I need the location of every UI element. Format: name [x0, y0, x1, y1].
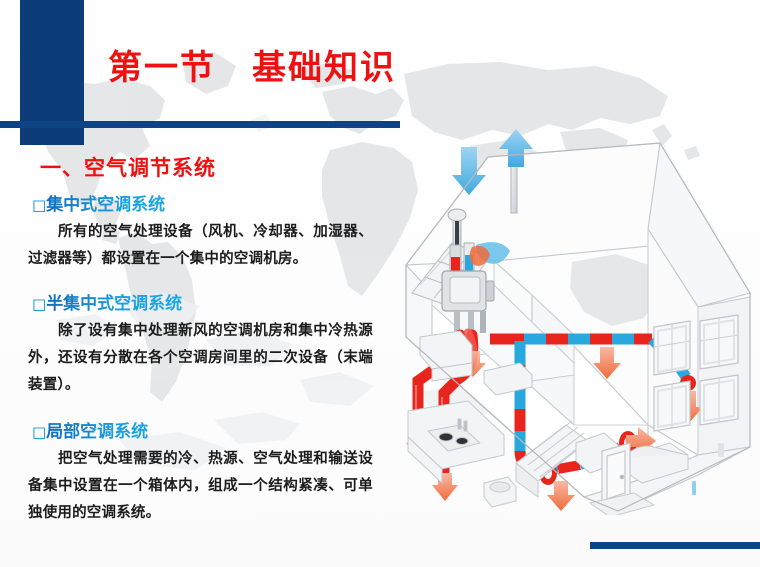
bullet-heading-2-label: 半集中式空调系统: [46, 294, 182, 314]
house-hvac-illustration: [398, 125, 760, 515]
bullet-heading-3: □局部空调系统: [32, 417, 373, 442]
paragraph-2: 除了设有集中处理新风的空调机房和集中冷热源外，还设有分散在各个空调房间里的二次设…: [28, 318, 373, 399]
slide-canvas: 第一节 基础知识 一、空气调节系统 □集中式空调系统 所有的空气处理设备（风机、…: [0, 0, 760, 567]
bullet-heading-3-label: 局部空调系统: [46, 422, 148, 442]
section-heading: 一、空气调节系统: [40, 152, 216, 182]
paragraph-1: 所有的空气处理设备（风机、冷却器、加湿器、过滤器等）都设置在一个集中的空调机房。: [28, 219, 373, 273]
house-hvac-svg: [398, 125, 760, 515]
square-bullet-icon: □: [32, 196, 46, 214]
square-bullet-icon: □: [32, 423, 46, 441]
paragraph-3: 把空气处理需要的冷、热源、空气处理和输送设备集中设置在一个箱体内，组成一个结构紧…: [28, 446, 373, 527]
title-underline: [0, 121, 400, 128]
page-title: 第一节 基础知识: [108, 40, 396, 89]
bullet-heading-1: □集中式空调系统: [32, 190, 373, 215]
bullet-heading-2: □半集中式空调系统: [32, 289, 373, 314]
footer-accent-bar: [590, 542, 760, 549]
content-column: □集中式空调系统 所有的空气处理设备（风机、冷却器、加湿器、过滤器等）都设置在一…: [28, 190, 373, 537]
square-bullet-icon: □: [32, 295, 46, 313]
bullet-heading-1-label: 集中式空调系统: [46, 195, 165, 215]
